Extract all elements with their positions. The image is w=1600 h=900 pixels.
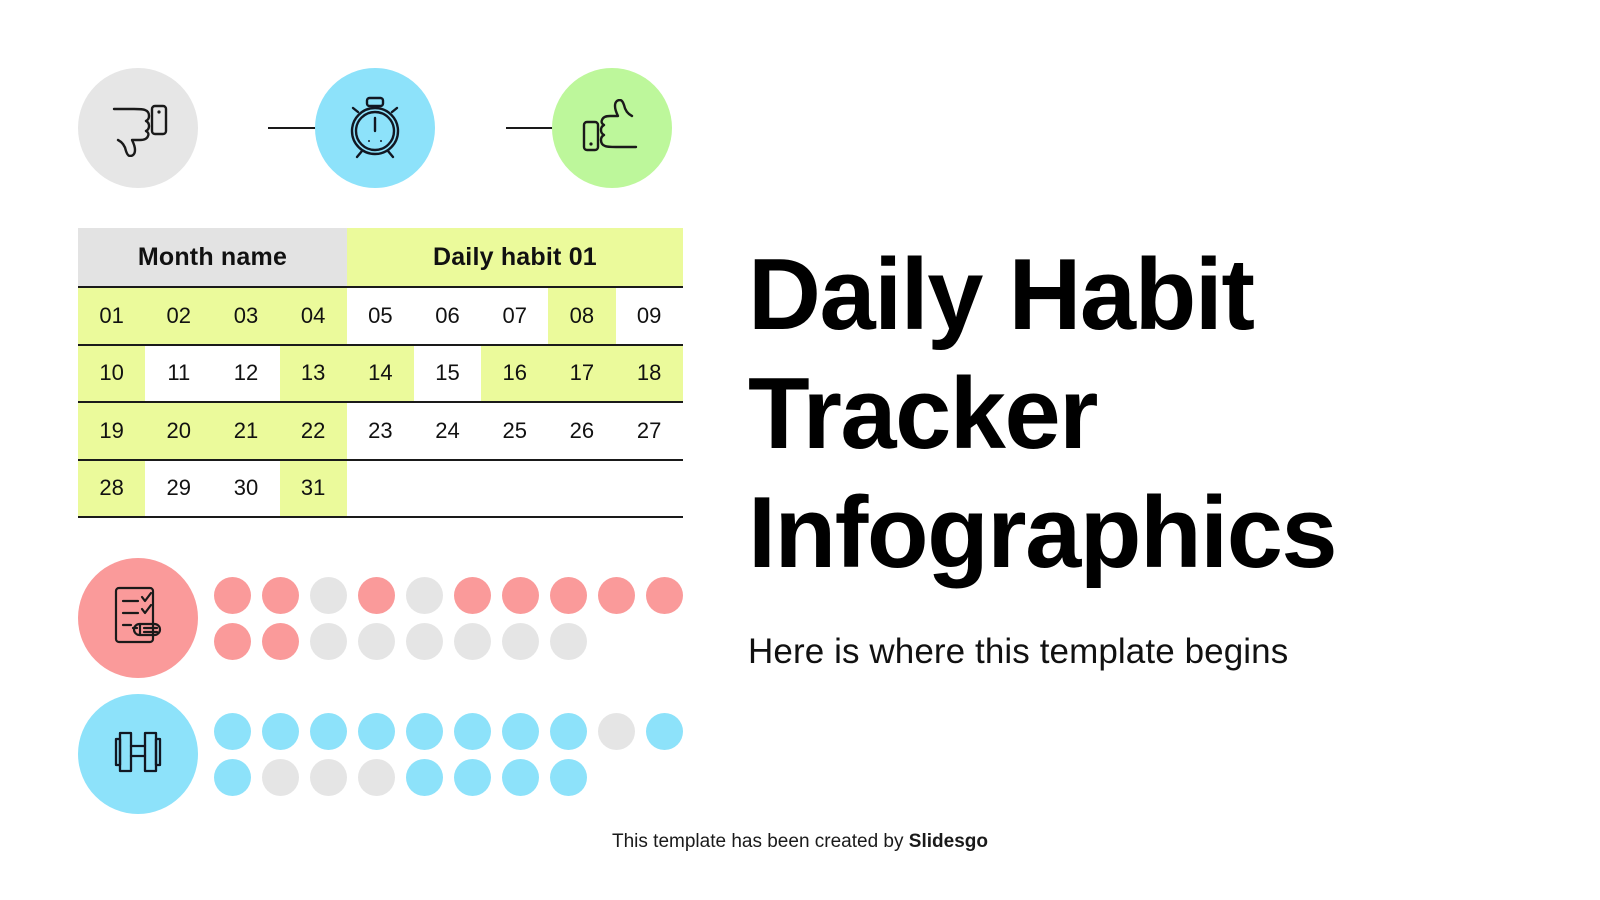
dot-filled[interactable] bbox=[310, 713, 347, 750]
calendar-cell-empty bbox=[347, 461, 414, 517]
tracker-badge-checklist[interactable] bbox=[78, 558, 198, 678]
footer-text: This template has been created by bbox=[612, 831, 909, 852]
calendar-row: 28293031 bbox=[78, 461, 683, 519]
calendar-header-row: Month name Daily habit 01 bbox=[78, 228, 683, 288]
dot-empty[interactable] bbox=[310, 759, 347, 796]
habit-tracker-pink bbox=[78, 558, 683, 678]
thumbs-down-icon bbox=[105, 99, 171, 157]
calendar-day-cell[interactable]: 10 bbox=[78, 346, 145, 402]
calendar-day-cell[interactable]: 05 bbox=[347, 288, 414, 344]
calendar-cell-empty bbox=[481, 461, 548, 517]
calendar-day-cell[interactable]: 16 bbox=[481, 346, 548, 402]
dot-filled[interactable] bbox=[550, 577, 587, 614]
title-line-1: Daily Habit bbox=[748, 236, 1548, 355]
calendar-day-cell[interactable]: 14 bbox=[347, 346, 414, 402]
calendar-day-cell[interactable]: 28 bbox=[78, 461, 145, 517]
dot-filled[interactable] bbox=[406, 713, 443, 750]
title-line-3: Infographics bbox=[748, 474, 1548, 593]
habit-tracker-blue bbox=[78, 694, 683, 814]
calendar-day-cell[interactable]: 25 bbox=[481, 403, 548, 459]
calendar-day-cell[interactable]: 20 bbox=[145, 403, 212, 459]
dot-filled[interactable] bbox=[454, 713, 491, 750]
dot-row bbox=[214, 623, 683, 660]
dot-empty[interactable] bbox=[454, 623, 491, 660]
dot-empty[interactable] bbox=[358, 759, 395, 796]
page-subtitle: Here is where this template begins bbox=[748, 632, 1548, 672]
dot-filled[interactable] bbox=[454, 577, 491, 614]
calendar-day-cell[interactable]: 19 bbox=[78, 403, 145, 459]
dot-filled[interactable] bbox=[214, 713, 251, 750]
dot-filled[interactable] bbox=[262, 623, 299, 660]
calendar-day-cell[interactable]: 13 bbox=[280, 346, 347, 402]
calendar-row: 010203040506070809 bbox=[78, 288, 683, 346]
dot-filled[interactable] bbox=[646, 577, 683, 614]
dot-filled[interactable] bbox=[358, 577, 395, 614]
title-block: Daily Habit Tracker Infographics Here is… bbox=[748, 236, 1548, 672]
calendar-day-cell[interactable]: 31 bbox=[280, 461, 347, 517]
calendar-day-cell[interactable]: 26 bbox=[548, 403, 615, 459]
footer-brand[interactable]: Slidesgo bbox=[909, 831, 988, 852]
dot-empty[interactable] bbox=[406, 623, 443, 660]
calendar-day-cell[interactable]: 01 bbox=[78, 288, 145, 344]
calendar-day-cell[interactable]: 07 bbox=[481, 288, 548, 344]
dot-row bbox=[214, 577, 683, 614]
habit-calendar-table: Month name Daily habit 01 01020304050607… bbox=[78, 228, 683, 518]
dot-empty[interactable] bbox=[502, 623, 539, 660]
dot-filled[interactable] bbox=[214, 577, 251, 614]
dot-filled[interactable] bbox=[502, 713, 539, 750]
dot-empty[interactable] bbox=[310, 623, 347, 660]
calendar-body: 0102030405060708091011121314151617181920… bbox=[78, 288, 683, 518]
dot-empty[interactable] bbox=[406, 577, 443, 614]
calendar-day-cell[interactable]: 24 bbox=[414, 403, 481, 459]
dot-filled[interactable] bbox=[550, 713, 587, 750]
calendar-cell-empty bbox=[548, 461, 615, 517]
checklist-pencil-icon bbox=[109, 584, 167, 653]
calendar-row: 101112131415161718 bbox=[78, 346, 683, 404]
dot-filled[interactable] bbox=[454, 759, 491, 796]
calendar-day-cell[interactable]: 03 bbox=[212, 288, 279, 344]
dot-filled[interactable] bbox=[406, 759, 443, 796]
tracker-badge-dumbbell[interactable] bbox=[78, 694, 198, 814]
dot-filled[interactable] bbox=[214, 759, 251, 796]
calendar-day-cell[interactable]: 18 bbox=[616, 346, 683, 402]
flow-node-bad-habit[interactable] bbox=[78, 68, 198, 188]
calendar-day-cell[interactable]: 09 bbox=[616, 288, 683, 344]
habit-flow-strip bbox=[78, 68, 688, 188]
dot-empty[interactable] bbox=[358, 623, 395, 660]
calendar-day-cell[interactable]: 02 bbox=[145, 288, 212, 344]
thumbs-up-icon bbox=[579, 99, 645, 157]
calendar-day-cell[interactable]: 15 bbox=[414, 346, 481, 402]
dot-empty[interactable] bbox=[550, 623, 587, 660]
dot-filled[interactable] bbox=[358, 713, 395, 750]
calendar-cell-empty bbox=[414, 461, 481, 517]
dot-row bbox=[214, 713, 683, 750]
dot-empty[interactable] bbox=[310, 577, 347, 614]
calendar-cell-empty bbox=[616, 461, 683, 517]
page-title: Daily Habit Tracker Infographics bbox=[748, 236, 1548, 594]
dot-row bbox=[214, 759, 683, 796]
calendar-day-cell[interactable]: 06 bbox=[414, 288, 481, 344]
alarm-clock-icon bbox=[344, 95, 406, 161]
dot-filled[interactable] bbox=[550, 759, 587, 796]
slide-root: Month name Daily habit 01 01020304050607… bbox=[0, 0, 1600, 900]
calendar-day-cell[interactable]: 11 bbox=[145, 346, 212, 402]
footer-credit: This template has been created by Slides… bbox=[0, 831, 1600, 853]
calendar-day-cell[interactable]: 30 bbox=[212, 461, 279, 517]
dot-empty[interactable] bbox=[262, 759, 299, 796]
dumbbell-icon bbox=[107, 723, 169, 786]
flow-node-good-habit[interactable] bbox=[552, 68, 672, 188]
calendar-habit-header: Daily habit 01 bbox=[347, 228, 683, 286]
dot-grid-pink bbox=[214, 577, 683, 660]
calendar-month-header: Month name bbox=[78, 228, 347, 286]
calendar-day-cell[interactable]: 08 bbox=[548, 288, 615, 344]
calendar-row: 192021222324252627 bbox=[78, 403, 683, 461]
dot-filled[interactable] bbox=[502, 759, 539, 796]
calendar-day-cell[interactable]: 29 bbox=[145, 461, 212, 517]
dot-filled[interactable] bbox=[502, 577, 539, 614]
calendar-day-cell[interactable]: 27 bbox=[616, 403, 683, 459]
title-line-2: Tracker bbox=[748, 355, 1548, 474]
calendar-day-cell[interactable]: 23 bbox=[347, 403, 414, 459]
dot-grid-blue bbox=[214, 713, 683, 796]
flow-node-in-progress[interactable] bbox=[315, 68, 435, 188]
dot-filled[interactable] bbox=[262, 713, 299, 750]
calendar-day-cell[interactable]: 17 bbox=[548, 346, 615, 402]
dot-filled[interactable] bbox=[646, 713, 683, 750]
calendar-day-cell[interactable]: 04 bbox=[280, 288, 347, 344]
calendar-day-cell[interactable]: 22 bbox=[280, 403, 347, 459]
dot-filled[interactable] bbox=[598, 577, 635, 614]
dot-filled[interactable] bbox=[262, 577, 299, 614]
calendar-day-cell[interactable]: 12 bbox=[212, 346, 279, 402]
calendar-day-cell[interactable]: 21 bbox=[212, 403, 279, 459]
dot-empty[interactable] bbox=[598, 713, 635, 750]
dot-filled[interactable] bbox=[214, 623, 251, 660]
